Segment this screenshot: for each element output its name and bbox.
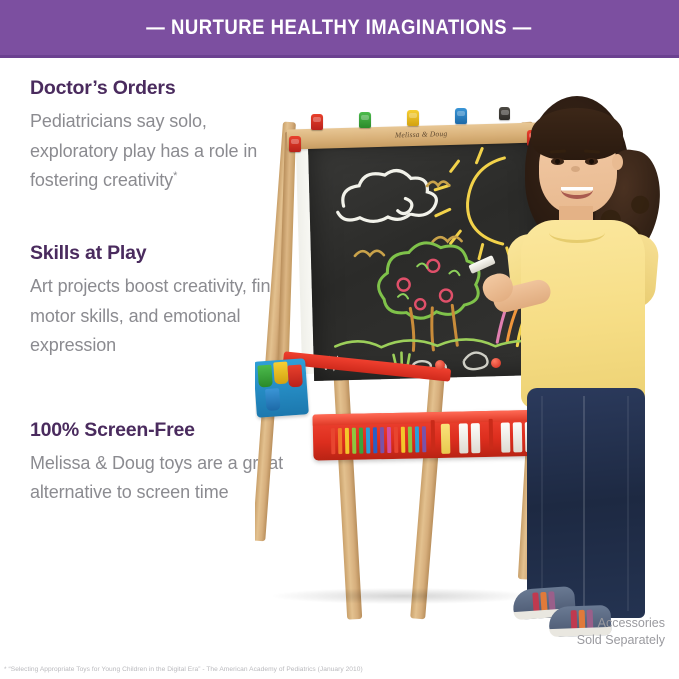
footnote-citation: * “Selecting Appropriate Toys for Young … <box>4 666 363 673</box>
banner-title: — NURTURE HEALTHY IMAGINATIONS — <box>147 16 532 40</box>
chalk-colored <box>366 427 371 453</box>
chalk-yellow-large <box>441 424 451 454</box>
footnote-marker: * <box>173 170 177 182</box>
chalk-colored <box>359 428 364 454</box>
chalk-white-large <box>459 423 469 453</box>
bird-drawing <box>353 181 462 256</box>
paint-cup-yellow <box>273 362 289 385</box>
child-model <box>487 88 672 658</box>
feature-heading: Doctor’s Orders <box>30 78 292 99</box>
nose <box>571 166 580 172</box>
feature-block-skills-at-play: Skills at Play Art projects boost creati… <box>30 243 292 360</box>
chalk-colored <box>373 427 378 453</box>
chalk-colored <box>394 427 399 453</box>
chalk-colored <box>387 427 392 453</box>
paint-cup-blue <box>265 388 281 411</box>
feature-body-text: Pediatricians say solo, exploratory play… <box>30 111 257 189</box>
paint-cup-holder <box>255 358 309 417</box>
hair-front <box>531 108 623 160</box>
chalk-colored <box>422 426 427 452</box>
jeans <box>527 388 645 618</box>
paper-clip-blue <box>455 108 467 124</box>
tree-foliage-drawing <box>377 242 480 320</box>
feature-block-doctors-orders: Doctor’s Orders Pediatricians say solo, … <box>30 78 292 195</box>
chalk-colored <box>338 428 343 454</box>
feature-heading: Skills at Play <box>30 243 292 264</box>
leaf-drawing <box>397 263 460 299</box>
paper-clip-yellow <box>407 110 419 126</box>
accessories-line-1: Accessories <box>577 615 665 632</box>
jeans-seam <box>583 396 585 611</box>
product-marketing-image: — NURTURE HEALTHY IMAGINATIONS — Doctor’… <box>0 0 679 679</box>
feature-body: Melissa & Doug toys are a great alternat… <box>30 449 292 507</box>
apple-drawing <box>397 259 452 309</box>
feature-heading: 100% Screen-Free <box>30 420 292 441</box>
feature-block-screen-free: 100% Screen-Free Melissa & Doug toys are… <box>30 420 292 508</box>
chalk-colored <box>380 427 385 453</box>
eye-right <box>585 158 598 165</box>
paper-clip-green <box>359 112 371 128</box>
tray-divider <box>431 420 436 450</box>
hair-curl <box>630 195 650 215</box>
chalk-colored <box>408 427 413 453</box>
chalk-colored <box>345 428 350 454</box>
chalk-colored <box>331 428 336 454</box>
cloud-drawing <box>337 170 437 223</box>
spacer <box>30 221 292 243</box>
feature-body: Art projects boost creativity, fine moto… <box>30 272 292 359</box>
paper-clip-red-lower <box>289 136 301 152</box>
accessories-line-2: Sold Separately <box>577 632 665 649</box>
header-banner: — NURTURE HEALTHY IMAGINATIONS — <box>0 0 679 58</box>
feature-list: Doctor’s Orders Pediatricians say solo, … <box>30 78 292 508</box>
smile <box>561 180 593 199</box>
chalk-white-large <box>471 423 481 453</box>
chalk-colored <box>401 427 406 453</box>
chalk-colored <box>415 426 420 452</box>
ear <box>612 154 623 170</box>
easel-knob <box>435 360 445 370</box>
paint-cup-red <box>287 365 303 388</box>
product-photo: Melissa & Doug <box>255 60 679 660</box>
spacer <box>30 386 292 420</box>
eye-left <box>551 158 564 165</box>
jeans-seam <box>627 396 629 611</box>
jeans-seam <box>541 396 543 611</box>
feature-body: Pediatricians say solo, exploratory play… <box>30 107 292 194</box>
paint-cup-green <box>257 365 273 388</box>
chalk-colored <box>352 428 357 454</box>
yellow-tshirt <box>521 220 645 408</box>
tree-trunk-drawing <box>410 305 457 350</box>
brand-logo: Melissa & Doug <box>395 129 448 139</box>
accessories-note: Accessories Sold Separately <box>577 615 665 650</box>
shirt-collar <box>549 222 605 243</box>
paper-clip-red <box>311 114 323 130</box>
